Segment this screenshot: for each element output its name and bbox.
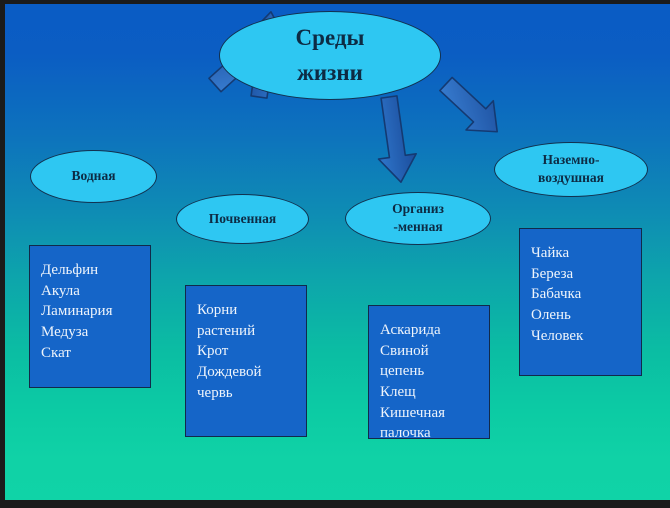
list-item: Дельфин (41, 260, 150, 281)
node-pochvennaya-label: Почвенная (209, 211, 276, 228)
node-nazemno-vozdushnaya[interactable]: Наземно- воздушная (494, 142, 648, 197)
node-pochvennaya[interactable]: Почвенная (176, 194, 309, 244)
list-item: червь (197, 383, 306, 404)
node-nazemno-line-2: воздушная (538, 170, 604, 187)
node-title-line-1: Среды (296, 24, 365, 53)
node-organizmennaya-line-2: -менная (393, 219, 442, 236)
list-item: растений (197, 321, 306, 342)
list-item: Аскарида (380, 320, 489, 341)
list-item: Береза (531, 264, 641, 285)
list-item: Медуза (41, 322, 150, 343)
list-item: палочка (380, 423, 489, 444)
list-item: Клещ (380, 382, 489, 403)
node-nazemno-line-1: Наземно- (543, 152, 600, 169)
list-item: Свиной (380, 341, 489, 362)
frame-left-edge (0, 0, 5, 508)
node-sredy-zhizni[interactable]: Среды жизни (219, 11, 441, 100)
node-vodnaya-label: Водная (71, 168, 115, 185)
listbox-organizmennaya[interactable]: Аскарида Свиной цепень Клещ Кишечная пал… (368, 305, 490, 439)
listbox-vodnaya[interactable]: Дельфин Акула Ламинария Медуза Скат (29, 245, 151, 388)
list-item: Олень (531, 305, 641, 326)
list-item: Чайка (531, 243, 641, 264)
slide-canvas: Среды жизни Водная Почвенная Организ -ме… (0, 0, 670, 508)
list-item: цепень (380, 361, 489, 382)
list-item: Человек (531, 326, 641, 347)
node-organizmennaya-line-1: Организ (392, 201, 444, 218)
list-item: Корни (197, 300, 306, 321)
list-item: Акула (41, 281, 150, 302)
node-vodnaya[interactable]: Водная (30, 150, 157, 203)
listbox-nazemno-vozdushnaya[interactable]: Чайка Береза Бабачка Олень Человек (519, 228, 642, 376)
node-title-line-2: жизни (297, 59, 363, 88)
list-item: Крот (197, 341, 306, 362)
listbox-pochvennaya[interactable]: Корни растений Крот Дождевой червь (185, 285, 307, 437)
node-organizmennaya[interactable]: Организ -менная (345, 192, 491, 245)
list-item: Кишечная (380, 403, 489, 424)
frame-bottom-edge (0, 500, 670, 508)
frame-top-edge (0, 0, 670, 4)
list-item: Скат (41, 343, 150, 364)
list-item: Дождевой (197, 362, 306, 383)
list-item: Бабачка (531, 284, 641, 305)
list-item: Ламинария (41, 301, 150, 322)
